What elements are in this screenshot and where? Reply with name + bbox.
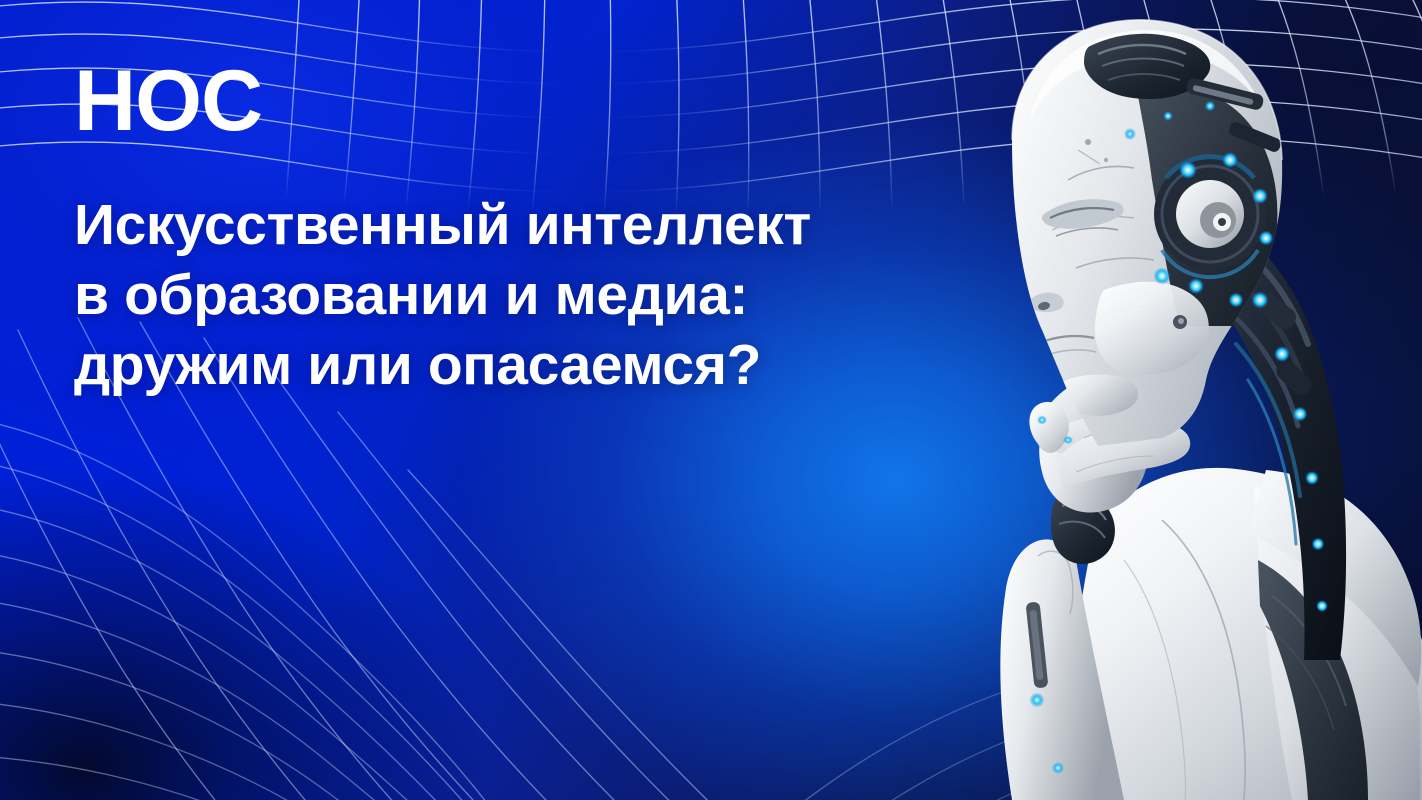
text-block: НОС Искусственный интеллект в образовани… [74,0,974,800]
robot-torso [1072,468,1422,800]
title-line-2: в образовании и медиа: [74,260,954,330]
page-title: Искусственный интеллект в образовании и … [74,190,954,400]
brand-logo: НОС [74,58,262,144]
title-line-1: Искусственный интеллект [74,190,954,260]
presentation-slide: НОС Искусственный интеллект в образовани… [0,0,1422,800]
robot-head [1012,20,1283,446]
title-line-3: дружим или опасаемся? [74,330,954,400]
